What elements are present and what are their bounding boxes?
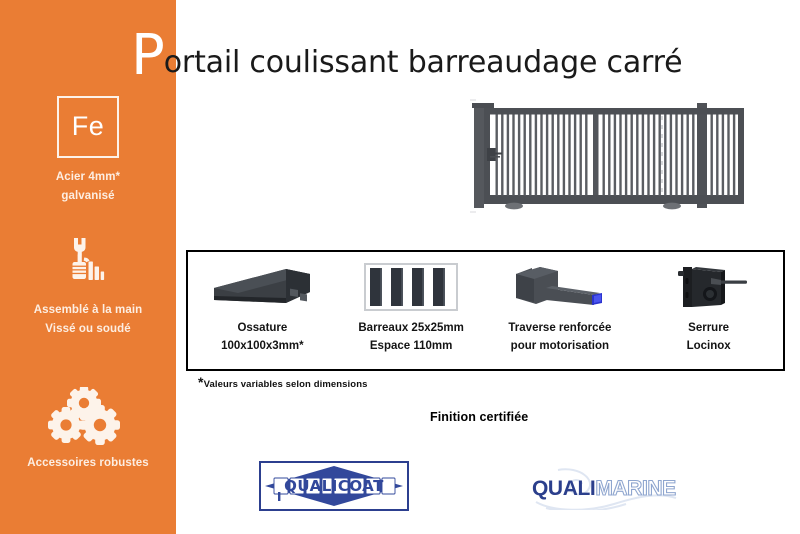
sidebar-feature-assembly: Assemblé à la main Vissé ou soudé	[0, 232, 176, 339]
product-datasheet-page: Fe Acier 4mm* galvanisé	[0, 0, 800, 534]
sidebar-feature-accessories: Accessoires robustes	[0, 385, 176, 473]
spec-serrure-line-1: Serrure	[688, 319, 729, 337]
footnote-text: Valeurs variables selon dimensions	[204, 379, 368, 390]
spec-traverse-line-2: pour motorisation	[511, 337, 609, 355]
specification-box: Ossature 100x100x3mm*	[186, 250, 785, 371]
spec-item-serrure: Serrure Locinox	[634, 252, 783, 369]
qualimarine-wordmark: QUALIMARINE	[532, 478, 676, 499]
sliding-gate-illustration	[466, 94, 792, 220]
footnote-marker: *	[198, 374, 204, 390]
certification-heading: Finition certifiée	[430, 410, 528, 424]
qualimarine-text-primary: QUALI	[532, 477, 595, 500]
footnote: *Valeurs variables selon dimensions	[198, 379, 367, 390]
feature-assembly-line-2: Vissé ou soudé	[0, 320, 176, 339]
reinforced-crossbeam-icon	[506, 260, 614, 314]
lock-icon	[663, 260, 755, 314]
sidebar-feature-list: Fe Acier 4mm* galvanisé	[0, 96, 176, 473]
spec-item-barreaux: Barreaux 25x25mm Espace 110mm	[337, 252, 486, 369]
sidebar-feature-material: Fe Acier 4mm* galvanisé	[0, 96, 176, 206]
spec-barreaux-line-1: Barreaux 25x25mm	[358, 319, 464, 337]
feature-assembly-line-1: Assemblé à la main	[0, 301, 176, 320]
gears-icon	[0, 385, 176, 445]
page-title: P ortail coulissant barreaudage carré	[131, 26, 682, 86]
page-title-drop-cap: P	[131, 28, 165, 84]
qualicoat-wordmark: QUALICOAT	[284, 477, 384, 495]
qualimarine-text-secondary: MARINE	[595, 477, 675, 500]
feature-accessories-line-1: Accessoires robustes	[0, 454, 176, 473]
hand-holding-wrench-icon	[0, 232, 176, 292]
vertical-bars-sample-icon	[364, 260, 458, 314]
spec-barreaux-line-2: Espace 110mm	[370, 337, 452, 355]
spec-traverse-line-1: Traverse renforcée	[508, 319, 611, 337]
spec-serrure-line-2: Locinox	[687, 337, 731, 355]
qualicoat-logo: QUALICOAT	[259, 461, 409, 511]
spec-item-traverse: Traverse renforcée pour motorisation	[486, 252, 635, 369]
page-title-text: ortail coulissant barreaudage carré	[164, 48, 683, 78]
spec-ossature-line-1: Ossature	[237, 319, 287, 337]
spec-item-ossature: Ossature 100x100x3mm*	[188, 252, 337, 369]
feature-material-line-2: galvanisé	[0, 187, 176, 206]
square-tube-profile-icon	[210, 260, 314, 314]
fe-badge-text: Fe	[72, 113, 105, 140]
feature-material-line-1: Acier 4mm*	[0, 168, 176, 187]
spec-ossature-line-2: 100x100x3mm*	[221, 337, 304, 355]
qualimarine-logo: QUALIMARINE	[522, 466, 698, 510]
fe-element-box-icon: Fe	[57, 96, 119, 158]
